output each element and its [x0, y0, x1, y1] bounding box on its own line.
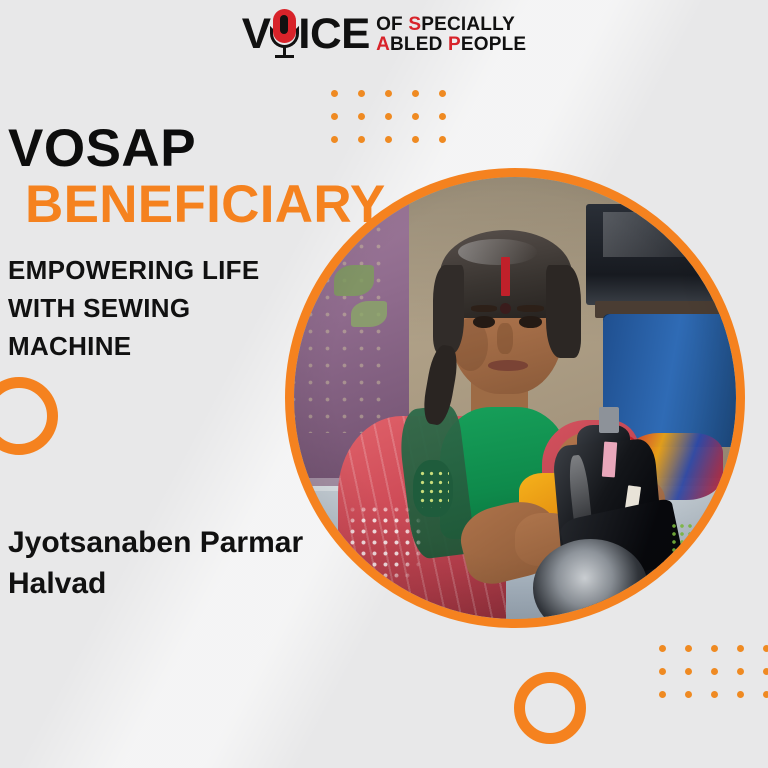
dot	[737, 645, 744, 652]
dot	[711, 645, 718, 652]
photo-mouth	[488, 360, 528, 371]
photo-sindoor	[501, 257, 510, 297]
dot	[763, 691, 768, 698]
decorative-ring-left	[0, 377, 58, 455]
dot	[331, 113, 338, 120]
subtitle-line-3: MACHINE	[8, 328, 260, 366]
dot	[439, 90, 446, 97]
logo-tagline-eople: EOPLE	[461, 34, 526, 55]
dot	[439, 136, 446, 143]
decorative-ring-bottom	[514, 672, 586, 744]
beneficiary-photo	[285, 168, 745, 628]
beneficiary-location: Halvad	[8, 563, 303, 604]
dot	[358, 90, 365, 97]
photo-eye-right	[519, 316, 541, 327]
dot	[385, 136, 392, 143]
dot	[685, 668, 692, 675]
beneficiary-block: Jyotsanaben Parmar Halvad	[8, 522, 303, 605]
logo-tagline-line1: OF SPECIALLY	[376, 15, 526, 35]
logo-tagline-a: A	[376, 34, 390, 55]
vosap-beneficiary-poster: V ICE OF SPECIALLY ABLED PEOPLE	[0, 0, 768, 768]
subtitle-block: EMPOWERING LIFE WITH SEWING MACHINE	[8, 252, 260, 366]
photo-sewing-machine-decoration	[670, 522, 710, 584]
logo-tagline-line2: ABLED PEOPLE	[376, 35, 526, 55]
logo-tagline-s: S	[408, 14, 421, 35]
subtitle-line-2: WITH SEWING	[8, 290, 260, 328]
dot	[685, 691, 692, 698]
microphone-base	[275, 55, 294, 58]
dot	[412, 136, 419, 143]
microphone-arc	[270, 26, 299, 48]
photo-curtain-leaf	[351, 301, 386, 328]
dot	[737, 668, 744, 675]
dot	[385, 90, 392, 97]
headline-vosap: VOSAP	[8, 122, 196, 175]
microphone-icon	[271, 8, 298, 60]
dot	[412, 90, 419, 97]
subtitle-line-1: EMPOWERING LIFE	[8, 252, 260, 290]
dot	[711, 691, 718, 698]
vosap-logo: V ICE OF SPECIALLY ABLED PEOPLE	[0, 8, 768, 60]
photo-nose	[497, 323, 512, 354]
dot	[385, 113, 392, 120]
dot	[358, 113, 365, 120]
photo-saree-patch-dots	[418, 469, 449, 509]
dot	[711, 668, 718, 675]
dot	[331, 90, 338, 97]
dot	[659, 691, 666, 698]
dot	[763, 645, 768, 652]
photo-eyebrow-right	[517, 305, 544, 312]
beneficiary-photo-inner	[294, 177, 736, 619]
logo-letter-v: V	[241, 13, 270, 56]
dot-pattern-bottom-right	[659, 645, 768, 714]
photo-eyebrow-left	[471, 305, 498, 312]
logo-wordmark-voice: V ICE	[242, 8, 369, 60]
photo-hair-left	[433, 265, 464, 353]
dot	[685, 645, 692, 652]
logo-tagline-p: P	[448, 34, 461, 55]
logo-tagline-bled: BLED	[390, 34, 448, 55]
dot	[358, 136, 365, 143]
dot-pattern-top	[331, 90, 466, 159]
logo-tagline: OF SPECIALLY ABLED PEOPLE	[376, 13, 526, 55]
logo-tagline-pecially: PECIALLY	[421, 14, 515, 35]
dot	[412, 113, 419, 120]
dot	[331, 136, 338, 143]
dot	[439, 113, 446, 120]
logo-inner: V ICE OF SPECIALLY ABLED PEOPLE	[242, 8, 527, 60]
photo-curtain-pattern	[294, 221, 391, 433]
dot	[659, 645, 666, 652]
photo-hair-right	[546, 265, 581, 358]
photo-television-glare	[603, 212, 736, 256]
photo-eye-left	[473, 316, 495, 327]
beneficiary-name: Jyotsanaben Parmar	[8, 522, 303, 563]
photo-curtain-leaf	[334, 265, 374, 296]
photo-bandhani-pattern	[347, 504, 427, 592]
dot	[737, 691, 744, 698]
photo-sewing-machine-spool-pin	[599, 407, 619, 434]
dot	[763, 668, 768, 675]
dot	[659, 668, 666, 675]
logo-letters-ice: ICE	[298, 13, 370, 56]
logo-tagline-of: OF	[376, 14, 408, 35]
